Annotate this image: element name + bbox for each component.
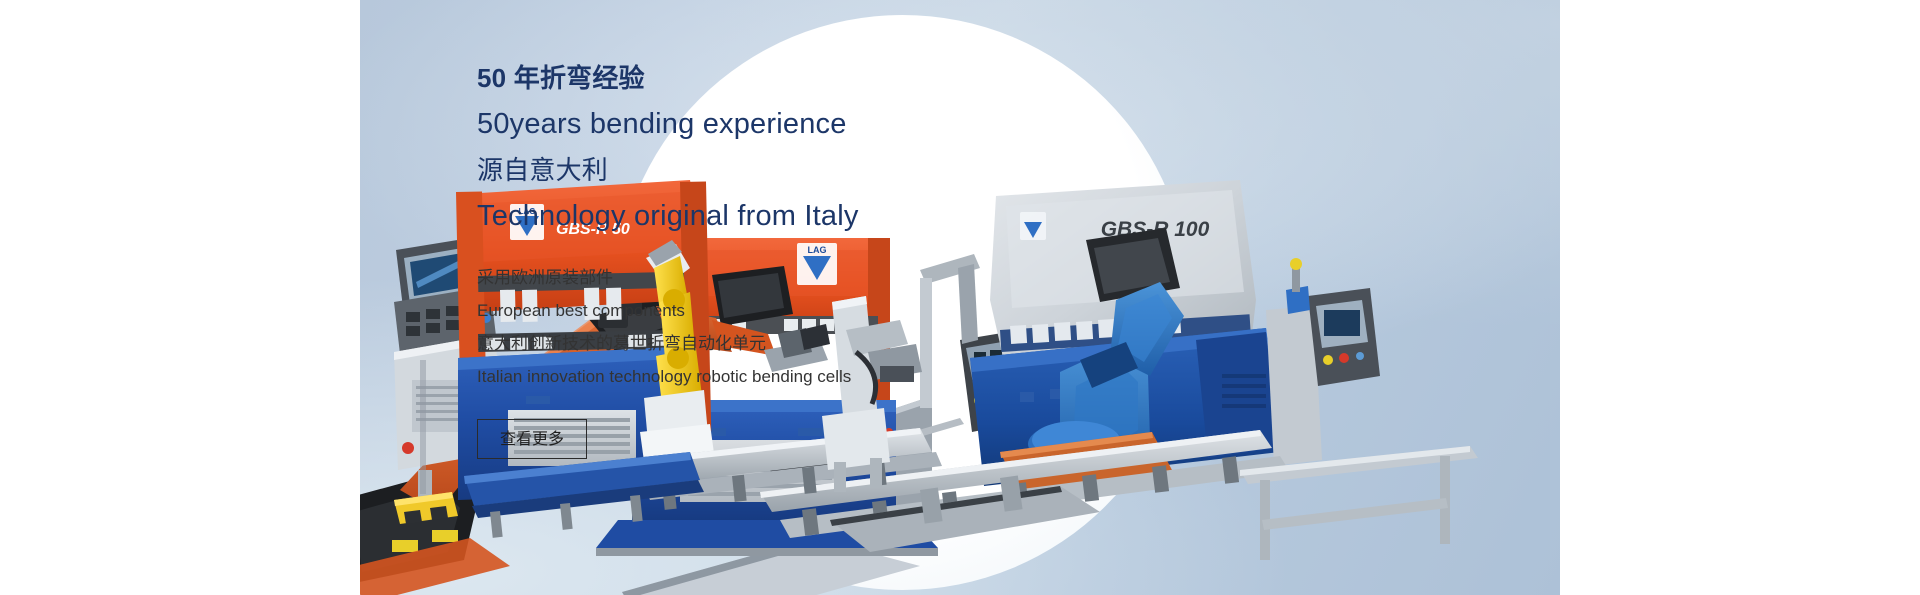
headline-line-3: 源自意大利 — [477, 147, 1037, 193]
view-more-button[interactable]: 查看更多 — [477, 419, 587, 459]
subcopy-line-1: 采用欧洲原装部件 — [477, 261, 1037, 294]
headline-line-2: 50years bending experience — [477, 101, 1037, 147]
subcopy-line-3: 意大利创新技术的葛世折弯自动化单元 — [477, 327, 1037, 360]
banner-stage: LAG — [0, 0, 1920, 595]
headline-line-4: Technology original from Italy — [477, 193, 1037, 239]
banner-copy: 50 年折弯经验 50years bending experience 源自意大… — [477, 55, 1037, 459]
floor-chock — [394, 492, 458, 524]
subcopy-line-4: Italian innovation technology robotic be… — [477, 360, 1037, 393]
headline-line-1: 50 年折弯经验 — [477, 55, 1037, 101]
subcopy-list: 采用欧洲原装部件 European best components 意大利创新技… — [477, 261, 1037, 393]
subcopy-line-2: European best components — [477, 294, 1037, 327]
headline-list: 50 年折弯经验 50years bending experience 源自意大… — [477, 55, 1037, 239]
hero-banner: LAG — [360, 0, 1560, 595]
